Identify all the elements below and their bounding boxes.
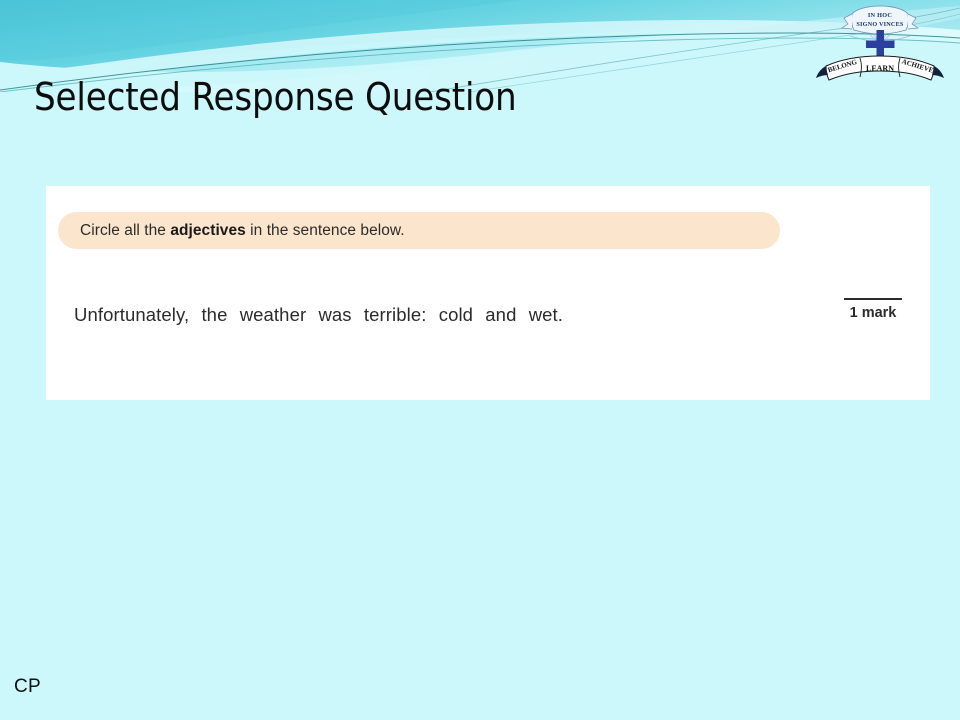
motto-scroll-icon: IN HOC SIGNO VINCES bbox=[842, 6, 918, 34]
page-title: Selected Response Question bbox=[34, 72, 517, 122]
instruction-banner: Circle all the adjectives in the sentenc… bbox=[58, 212, 780, 249]
worksheet-card: Circle all the adjectives in the sentenc… bbox=[46, 186, 930, 400]
instruction-keyword: adjectives bbox=[170, 222, 245, 239]
mark-label: 1 mark bbox=[844, 305, 902, 321]
mark-allocation: 1 mark bbox=[844, 298, 902, 321]
question-sentence: Unfortunately, the weather was terrible:… bbox=[74, 304, 563, 326]
school-crest-logo: IN HOC SIGNO VINCES BELONG LEARN ACHIEVE bbox=[812, 2, 948, 88]
instruction-text: Circle all the adjectives in the sentenc… bbox=[58, 222, 405, 240]
motto-top-line1: IN HOC bbox=[868, 12, 892, 19]
mark-rule-line bbox=[844, 298, 902, 300]
ribbon-learn-label: LEARN bbox=[866, 64, 894, 73]
slide-canvas: IN HOC SIGNO VINCES BELONG LEARN ACHIEVE bbox=[0, 0, 960, 720]
motto-top-line2: SIGNO VINCES bbox=[856, 21, 904, 28]
values-ribbon-icon: BELONG LEARN ACHIEVE bbox=[816, 56, 944, 80]
instruction-text-after: in the sentence below. bbox=[246, 222, 405, 239]
footer-initials: CP bbox=[14, 676, 41, 698]
school-crest-graphic: IN HOC SIGNO VINCES BELONG LEARN ACHIEVE bbox=[812, 2, 948, 88]
instruction-text-before: Circle all the bbox=[80, 222, 170, 239]
